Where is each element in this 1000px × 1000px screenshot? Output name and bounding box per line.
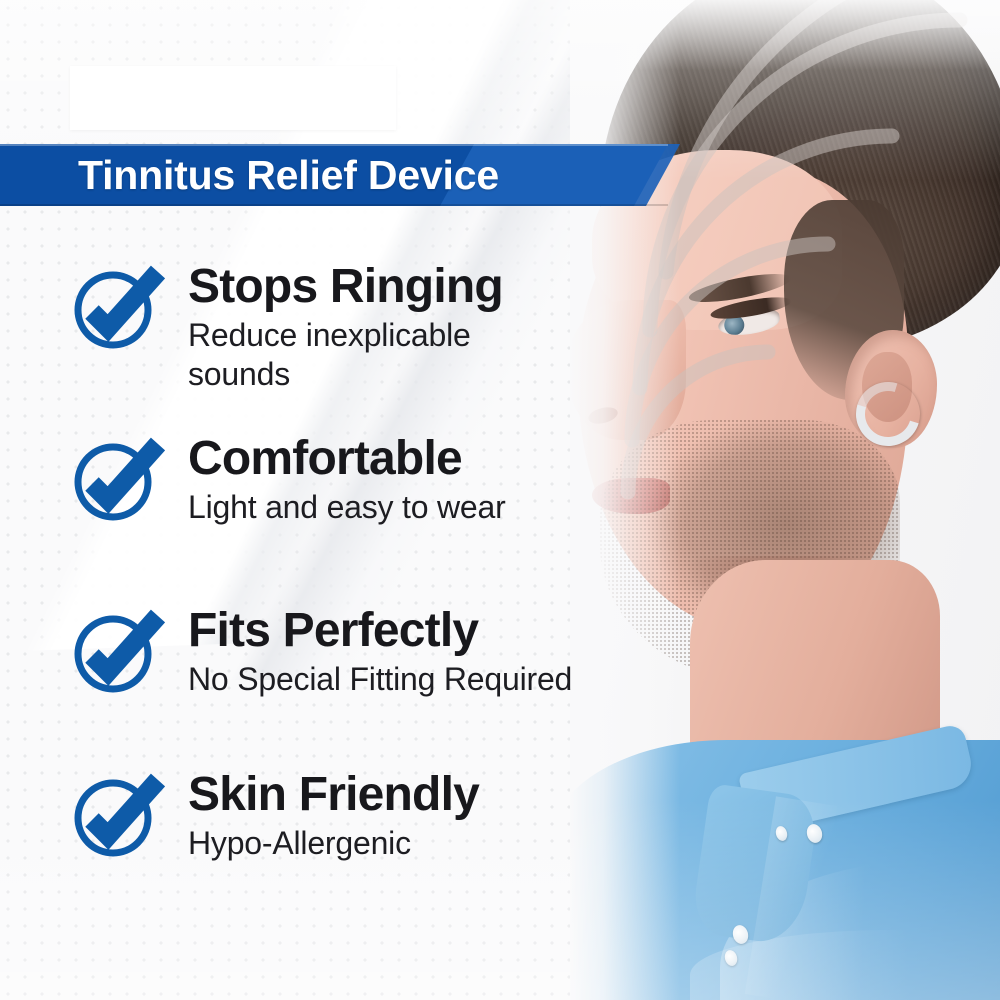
feature-title: Fits Perfectly	[188, 606, 688, 656]
page-title: Tinnitus Relief Device	[78, 144, 499, 206]
logo-placeholder	[70, 66, 396, 130]
title-banner: Tinnitus Relief Device	[0, 144, 668, 206]
feature-text: Stops Ringing Reduce inexplicable sounds	[188, 262, 688, 394]
check-circle-icon	[68, 770, 168, 862]
feature-subtitle: No Special Fitting Required	[188, 660, 688, 699]
feature-text: Comfortable Light and easy to wear	[188, 434, 688, 527]
feature-subtitle: Light and easy to wear	[188, 488, 688, 527]
check-circle-icon	[68, 606, 168, 698]
feature-subtitle: Hypo-Allergenic	[188, 824, 688, 863]
feature-title: Stops Ringing	[188, 262, 688, 312]
feature-title: Skin Friendly	[188, 770, 688, 820]
product-feature-image: Tinnitus Relief Device Stops Ringing Red…	[0, 0, 1000, 1000]
check-circle-icon	[68, 262, 168, 354]
feature-subtitle: Reduce inexplicable sounds	[188, 316, 558, 394]
feature-text: Fits Perfectly No Special Fitting Requir…	[188, 606, 688, 699]
check-circle-icon	[68, 434, 168, 526]
feature-title: Comfortable	[188, 434, 688, 484]
photo-top-fade	[570, 0, 1000, 70]
feature-text: Skin Friendly Hypo-Allergenic	[188, 770, 688, 863]
